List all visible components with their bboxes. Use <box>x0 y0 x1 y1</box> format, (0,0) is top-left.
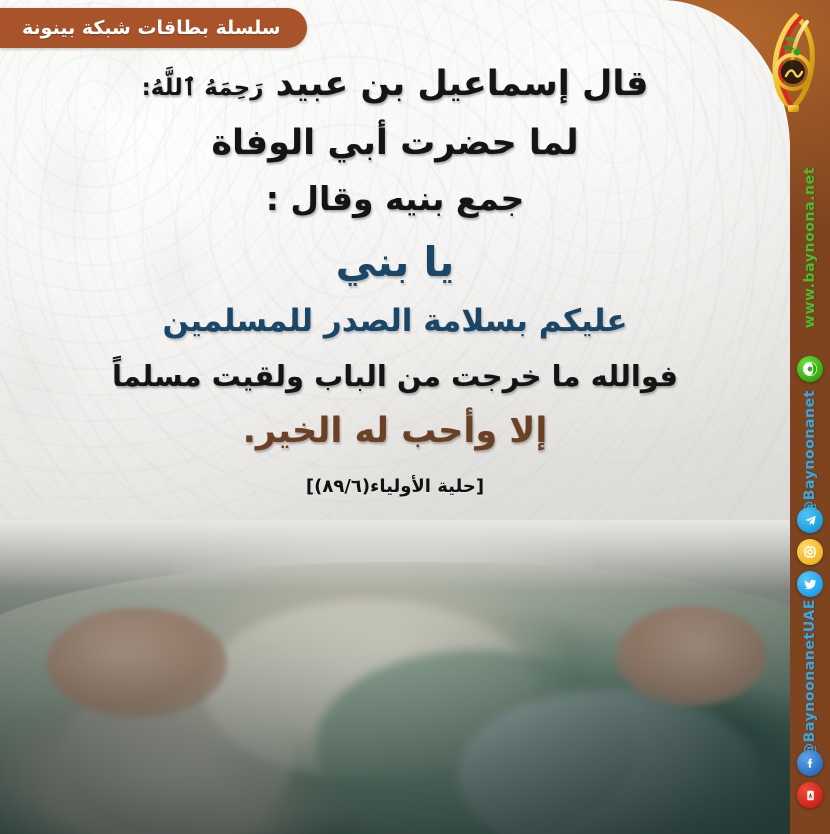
twitter-handle-text: @Baynoonanet <box>802 390 818 515</box>
quote-line-7: إلا وأحب له الخير. <box>34 409 756 454</box>
telegram-icon-circle <box>797 507 823 533</box>
quote-line-advice: عليكم بسلامة الصدر للمسلمين <box>34 302 756 342</box>
sleeping-person-photo <box>0 520 790 834</box>
telegram-icon[interactable] <box>790 505 830 535</box>
facebook-icon-circle <box>797 750 823 776</box>
quote-block: قال إسماعيل بن عبيد رَحِمَهُ ٱللَّهُ: لم… <box>0 62 790 497</box>
globe-icon[interactable] <box>790 352 830 386</box>
quote-line-6: فوالله ما خرجت من الباب ولقيت مسلماً <box>34 358 756 395</box>
instagram-handle-label[interactable]: @BaynoonanetUAE <box>790 605 830 750</box>
quote-line-attribution: قال إسماعيل بن عبيد رَحِمَهُ ٱللَّهُ: <box>34 62 756 107</box>
facebook-icon[interactable] <box>790 748 830 778</box>
series-banner: سلسلة بطاقات شبكة بينونة <box>0 8 307 48</box>
website-url-text: www.baynoona.net <box>802 167 818 328</box>
website-label[interactable]: www.baynoona.net <box>790 170 830 325</box>
app-icon[interactable] <box>790 780 830 810</box>
quote-honorific: رَحِمَهُ ٱللَّهُ: <box>142 75 264 101</box>
instagram-icon-circle <box>797 539 823 565</box>
quote-card: سلسلة بطاقات شبكة بينونة <box>0 0 830 834</box>
quote-speaker: قال إسماعيل بن عبيد <box>276 64 649 104</box>
photo-wall-blend <box>0 520 790 590</box>
twitter-icon[interactable] <box>790 569 830 599</box>
social-rail: www.baynoona.net @Baynoonanet <box>790 0 830 834</box>
series-banner-label: سلسلة بطاقات شبكة بينونة <box>22 17 281 39</box>
twitter-icon-circle <box>797 571 823 597</box>
quote-line-2: لما حضرت أبي الوفاة <box>34 121 756 166</box>
app-icon-circle <box>797 782 823 808</box>
quote-line-address: يا بني <box>34 236 756 288</box>
quote-line-3: جمع بنيه وقال : <box>34 178 756 220</box>
quote-source-citation: [حلية الأولياء(٨٩/٦)] <box>34 476 756 497</box>
instagram-icon[interactable] <box>790 537 830 567</box>
twitter-handle-label[interactable]: @Baynoonanet <box>790 400 830 505</box>
instagram-handle-text: @BaynoonanetUAE <box>802 599 818 757</box>
globe-icon-circle <box>797 356 823 382</box>
